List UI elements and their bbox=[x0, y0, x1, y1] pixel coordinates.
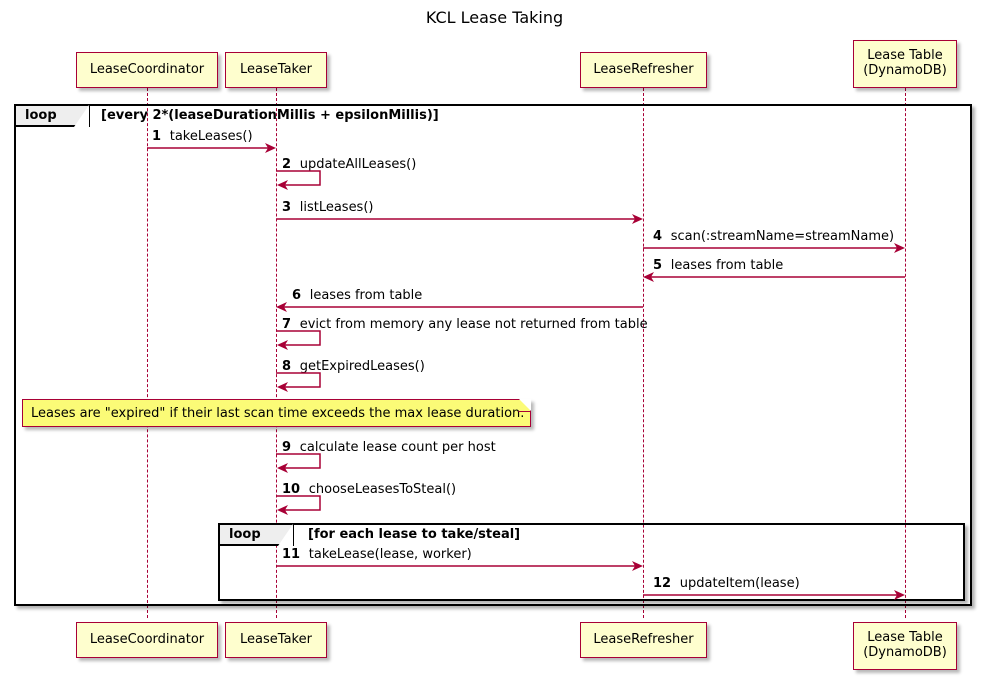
message-2-self-arrow bbox=[276, 169, 331, 191]
participant-leasecoordinator-top-line-0: LeaseCoordinator bbox=[90, 63, 204, 78]
message-4-arrow bbox=[643, 240, 913, 254]
participant-leaserefresher-bottom-line-0: LeaseRefresher bbox=[593, 633, 693, 648]
message-3-arrow bbox=[276, 211, 651, 225]
sequence-diagram: KCL Lease Taking loop [every 2*(leaseDur… bbox=[0, 0, 989, 681]
message-5-arrow bbox=[643, 269, 913, 283]
participant-leasecoordinator-top[interactable]: LeaseCoordinator bbox=[76, 52, 218, 88]
message-12-arrow bbox=[643, 587, 913, 601]
message-7-self-arrow bbox=[276, 329, 331, 351]
frame-inner-loop-label: loop bbox=[220, 525, 294, 546]
participant-leasetable-top[interactable]: Lease Table (DynamoDB) bbox=[853, 40, 957, 88]
frame-inner-loop-label-text: loop bbox=[229, 527, 261, 542]
diagram-title: KCL Lease Taking bbox=[0, 8, 989, 27]
participant-leasetaker-top[interactable]: LeaseTaker bbox=[225, 52, 327, 88]
participant-leasetable-bottom[interactable]: Lease Table (DynamoDB) bbox=[853, 622, 957, 670]
participant-leaserefresher-bottom[interactable]: LeaseRefresher bbox=[580, 622, 707, 658]
frame-outer-loop-label-text: loop bbox=[25, 108, 57, 123]
message-9-self-arrow bbox=[276, 452, 331, 474]
message-10-self-arrow bbox=[276, 494, 331, 516]
message-1-arrow bbox=[147, 140, 282, 154]
message-8-self-arrow bbox=[276, 371, 331, 393]
participant-leasetable-bottom-line-0: Lease Table bbox=[867, 631, 943, 646]
participant-leaserefresher-top[interactable]: LeaseRefresher bbox=[580, 52, 707, 88]
participant-leasetable-top-line-0: Lease Table bbox=[867, 49, 943, 64]
participant-leasecoordinator-bottom-line-0: LeaseCoordinator bbox=[90, 633, 204, 648]
participant-leasetaker-bottom-line-0: LeaseTaker bbox=[240, 633, 312, 648]
note-expired-leases: Leases are "expired" if their last scan … bbox=[22, 399, 531, 427]
message-7-label: 7 evict from memory any lease not return… bbox=[282, 317, 648, 332]
frame-outer-loop-label: loop bbox=[16, 106, 90, 127]
participant-leasetable-top-line-1: (DynamoDB) bbox=[863, 64, 947, 79]
message-7-text: evict from memory any lease not returned… bbox=[300, 317, 648, 332]
message-6-arrow bbox=[276, 299, 651, 313]
participant-leasecoordinator-bottom[interactable]: LeaseCoordinator bbox=[76, 622, 218, 658]
frame-outer-loop-condition: [every 2*(leaseDurationMillis + epsilonM… bbox=[101, 108, 439, 123]
note-text: Leases are "expired" if their last scan … bbox=[31, 406, 524, 421]
participant-leasetaker-top-line-0: LeaseTaker bbox=[240, 63, 312, 78]
frame-inner-loop-condition: [for each lease to take/steal] bbox=[308, 527, 520, 542]
participant-leasetaker-bottom[interactable]: LeaseTaker bbox=[225, 622, 327, 658]
participant-leasetable-bottom-line-1: (DynamoDB) bbox=[863, 646, 947, 661]
participant-leaserefresher-top-line-0: LeaseRefresher bbox=[593, 63, 693, 78]
message-11-arrow bbox=[276, 558, 651, 572]
